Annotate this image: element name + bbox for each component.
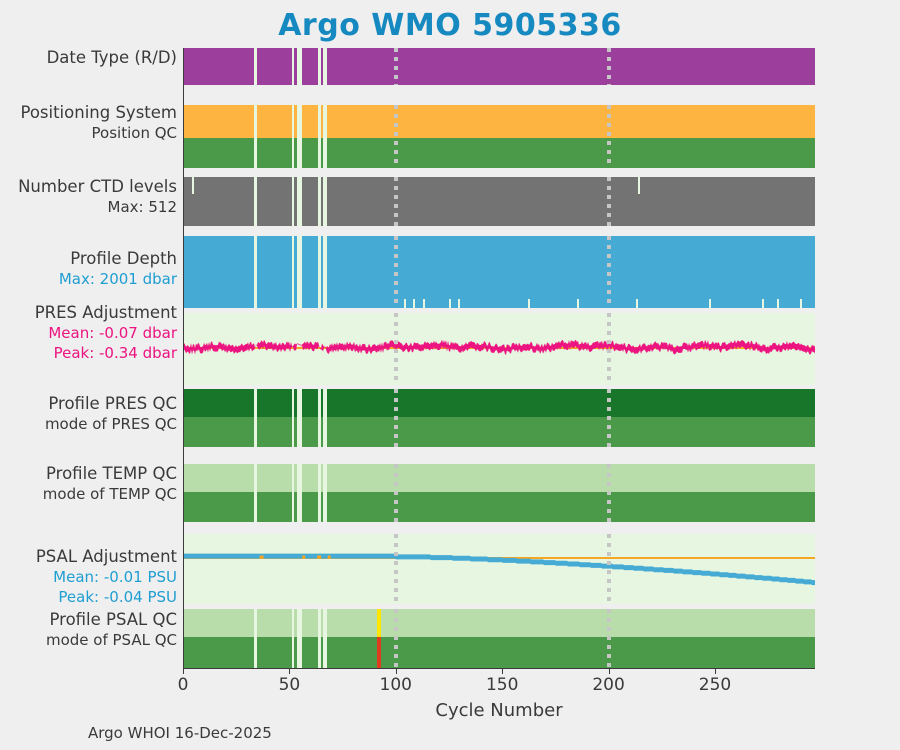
x-tick [396,668,397,674]
mode-psal-qc-segment [257,637,291,668]
mode-temp-qc-segment [294,492,297,522]
profile-pres-qc-segment [257,389,291,417]
pres-adjustment-trace [183,313,815,385]
mode-pres-qc-segment [327,417,815,447]
profile-psal-qc-segment [321,609,323,637]
x-tick-label: 250 [699,675,731,695]
mode-pres-qc-segment [294,417,297,447]
ctd-levels-segment [257,177,291,226]
depth-shallow-marker [709,299,711,308]
date-type-segment [321,48,323,85]
profile-temp-qc-segment [294,464,297,492]
row-label-psal-qc: Profile PSAL QC mode of PSAL QC [0,610,177,650]
ctd-levels-segment [294,177,297,226]
ctd-levels-segment [183,177,254,226]
panel-number-ctd-levels [183,177,815,226]
panel-position-qc [183,138,815,168]
date-type-segment [302,48,318,85]
reference-line-cycle-200 [607,105,611,168]
page-title: Argo WMO 5905336 [0,8,900,43]
mode-temp-qc-segment [302,492,318,522]
x-tick [183,668,184,674]
reference-line-cycle-200 [607,389,611,447]
x-tick-label: 150 [486,675,518,695]
profile-psal-qc-segment [183,609,254,637]
mode-temp-qc-segment [321,492,323,522]
profile-temp-qc-segment [257,464,291,492]
positioning-system-segment [302,105,318,138]
ctd-short-profile-marker [192,177,194,194]
depth-shallow-marker [777,299,779,308]
panel-profile-depth [183,236,815,308]
x-tick-label: 0 [178,675,189,695]
row-label-positioning-text: Positioning System [20,103,177,122]
panel-profile-pres-qc [183,389,815,417]
row-label-mode-psal-qc: mode of PSAL QC [0,630,177,650]
mode-psal-qc-flag-marker [377,637,381,668]
positioning-system-segment [257,105,291,138]
axis-left-spine [183,48,184,668]
row-label-positioning: Positioning System Position QC [0,103,177,143]
row-label-date-type: Date Type (R/D) [0,48,177,68]
mode-temp-qc-segment [257,492,291,522]
position-qc-segment [327,138,815,168]
profile-depth-segment [294,236,297,308]
ctd-short-profile-marker [638,177,640,194]
depth-shallow-marker [423,299,425,308]
mode-psal-qc-segment [327,637,815,668]
axis-bottom-spine [183,668,815,669]
reference-line-cycle-100 [394,48,398,85]
positioning-system-segment [294,105,297,138]
depth-shallow-marker [762,299,764,308]
row-label-psal-adjustment: PSAL Adjustment Mean: -0.01 PSU Peak: -0… [0,547,177,607]
panel-profile-psal-qc [183,609,815,637]
reference-line-cycle-200 [607,48,611,85]
panel-profile-temp-qc [183,464,815,492]
reference-line-cycle-100 [394,236,398,308]
position-qc-segment [302,138,318,168]
row-label-depth: Profile Depth Max: 2001 dbar [0,249,177,289]
ctd-levels-segment [321,177,323,226]
profile-psal-qc-segment [257,609,291,637]
row-label-profile-pres-qc: Profile PRES QC [48,394,177,413]
profile-depth-segment [327,236,815,308]
profile-pres-qc-segment [183,389,254,417]
positioning-system-segment [183,105,254,138]
reference-line-cycle-200 [607,609,611,668]
panel-mode-temp-qc [183,492,815,522]
reference-line-cycle-100 [394,389,398,447]
panel-mode-psal-qc [183,637,815,668]
reference-line-cycle-100 [394,105,398,168]
profile-depth-segment [321,236,323,308]
reference-line-cycle-100 [394,464,398,522]
mode-temp-qc-segment [327,492,815,522]
mode-pres-qc-segment [257,417,291,447]
panel-positioning-system [183,105,815,138]
row-label-pres-mean: Mean: -0.07 dbar [0,323,177,343]
ctd-levels-segment [327,177,815,226]
depth-shallow-marker [413,299,415,308]
depth-shallow-marker [636,299,638,308]
profile-psal-qc-segment [294,609,297,637]
position-qc-segment [294,138,297,168]
position-qc-segment [321,138,323,168]
date-type-segment [294,48,297,85]
row-label-temp-qc: Profile TEMP QC mode of TEMP QC [0,464,177,504]
profile-temp-qc-segment [302,464,318,492]
x-axis-label: Cycle Number [183,700,815,721]
mode-temp-qc-segment [183,492,254,522]
row-label-ctd: Number CTD levels Max: 512 [0,177,177,217]
row-label-ctd-max: Max: 512 [0,197,177,217]
profile-pres-qc-segment [302,389,318,417]
depth-shallow-marker [449,299,451,308]
mode-psal-qc-segment [302,637,318,668]
x-tick-label: 200 [592,675,624,695]
profile-depth-segment [302,236,318,308]
position-qc-segment [183,138,254,168]
reference-line-cycle-200 [607,313,611,385]
mode-psal-qc-segment [321,637,323,668]
row-label-psal-peak: Peak: -0.04 PSU [0,587,177,607]
row-label-depth-max: Max: 2001 dbar [0,269,177,289]
panel-date-type [183,48,815,85]
mode-pres-qc-segment [183,417,254,447]
x-tick [609,668,610,674]
depth-shallow-marker [404,299,406,308]
row-label-depth-text: Profile Depth [70,249,177,268]
row-label-ctd-text: Number CTD levels [18,177,177,196]
row-label-date-type-text: Date Type (R/D) [47,48,177,67]
profile-depth-segment [257,236,291,308]
profile-temp-qc-segment [183,464,254,492]
profile-psal-qc-segment [327,609,815,637]
reference-line-cycle-100 [394,177,398,226]
reference-line-cycle-200 [607,464,611,522]
row-label-pres-adjustment: PRES Adjustment Mean: -0.07 dbar Peak: -… [0,303,177,363]
depth-shallow-marker [458,299,460,308]
depth-shallow-marker [528,299,530,308]
reference-line-cycle-100 [394,534,398,604]
date-type-segment [257,48,291,85]
row-label-psal-mean: Mean: -0.01 PSU [0,567,177,587]
x-tick-label: 50 [279,675,301,695]
date-type-segment [183,48,254,85]
profile-temp-qc-segment [321,464,323,492]
ctd-levels-segment [302,177,318,226]
reference-line-cycle-200 [607,534,611,604]
row-label-mode-temp-qc: mode of TEMP QC [0,484,177,504]
profile-temp-qc-segment [327,464,815,492]
argo-float-summary-figure: Argo WMO 5905336 Date Type (R/D) Positio… [0,0,900,750]
reference-line-cycle-100 [394,609,398,668]
row-label-psal-adjustment-text: PSAL Adjustment [36,547,177,566]
positioning-system-segment [327,105,815,138]
depth-shallow-marker [800,299,802,308]
depth-shallow-marker [577,299,579,308]
reference-line-cycle-200 [607,236,611,308]
row-label-mode-pres-qc: mode of PRES QC [0,414,177,434]
row-label-pres-peak: Peak: -0.34 dbar [0,343,177,363]
row-label-profile-psal-qc: Profile PSAL QC [49,610,177,629]
x-tick [502,668,503,674]
profile-psal-qc-segment [302,609,318,637]
reference-line-cycle-100 [394,313,398,385]
row-label-profile-temp-qc: Profile TEMP QC [46,464,177,483]
profile-pres-qc-segment [294,389,297,417]
x-tick-label: 100 [380,675,412,695]
x-tick [289,668,290,674]
position-qc-segment [257,138,291,168]
mode-psal-qc-segment [183,637,254,668]
panel-mode-pres-qc [183,417,815,447]
mode-pres-qc-segment [302,417,318,447]
row-label-pres-qc: Profile PRES QC mode of PRES QC [0,394,177,434]
profile-pres-qc-segment [327,389,815,417]
mode-psal-qc-segment [294,637,297,668]
panel-psal-adjustment [183,534,815,604]
profile-depth-segment [183,236,254,308]
profile-pres-qc-segment [321,389,323,417]
reference-line-cycle-200 [607,177,611,226]
date-type-segment [327,48,815,85]
row-label-position-qc-text: Position QC [0,123,177,143]
positioning-system-segment [321,105,323,138]
panel-pres-adjustment [183,313,815,385]
mode-pres-qc-segment [321,417,323,447]
figure-footer: Argo WHOI 16-Dec-2025 [88,724,272,742]
psal-qc-flag-marker [377,609,381,637]
row-label-pres-adjustment-text: PRES Adjustment [35,303,177,322]
psal-adjustment-trace [183,534,815,604]
x-tick [715,668,716,674]
